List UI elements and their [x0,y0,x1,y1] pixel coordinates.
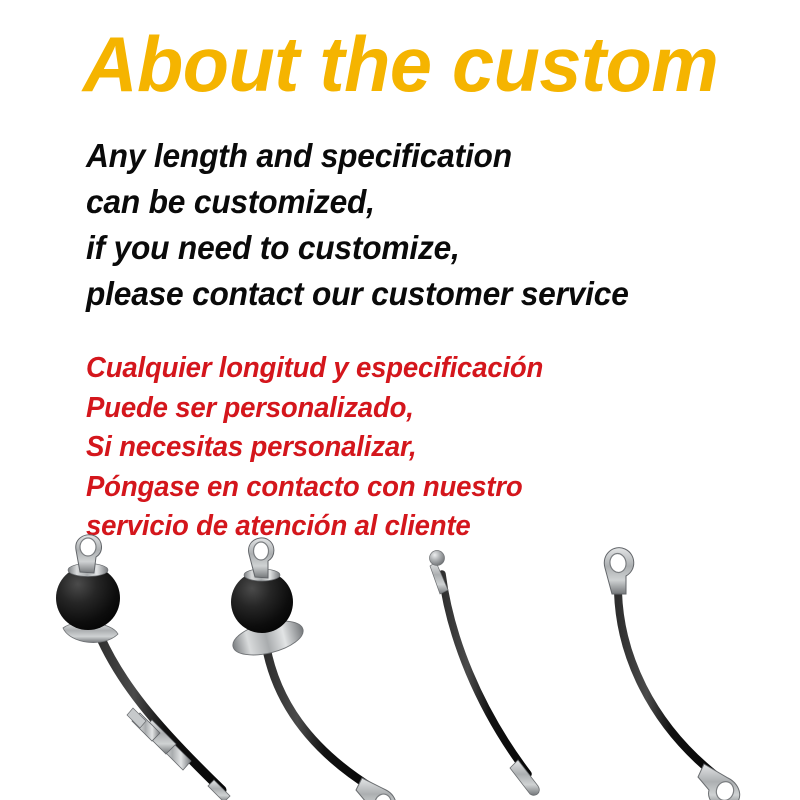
cable-body-1 [96,627,222,790]
cable-body-4 [618,592,714,774]
english-description-block: Any length and specification can be cust… [86,133,798,317]
product-info-banner: About the custom Any length and specific… [0,0,800,800]
ring-terminal-4 [698,764,740,800]
spanish-line-4: Póngase en contacto con nuestro [86,468,762,508]
product-1 [56,535,230,800]
english-line-4: please contact our customer service [86,271,770,317]
eyelet-ring-terminal-4 [604,548,634,594]
product-illustrations [0,532,800,800]
product-4 [604,548,739,800]
page-title-row: About the custom [0,26,800,102]
english-line-1: Any length and specification [86,133,770,179]
spanish-description-block: Cualquier longitud y especificación Pued… [86,349,798,547]
product-image-strip [0,532,800,800]
spanish-line-3: Si necesitas personalizar, [86,428,762,468]
english-line-2: can be customized, [86,179,770,225]
ring-terminal-2 [356,778,396,800]
page-title: About the custom [82,26,717,102]
spanish-line-1: Cualquier longitud y especificación [86,349,762,389]
product-2 [229,538,396,800]
cable-body-3 [442,574,528,774]
spanish-line-2: Puede ser personalizado, [86,389,762,429]
product-3 [430,551,540,796]
threaded-barrel-nut-1 [127,708,191,770]
english-line-3: if you need to customize, [86,225,770,271]
cable-body-2 [266,646,372,788]
